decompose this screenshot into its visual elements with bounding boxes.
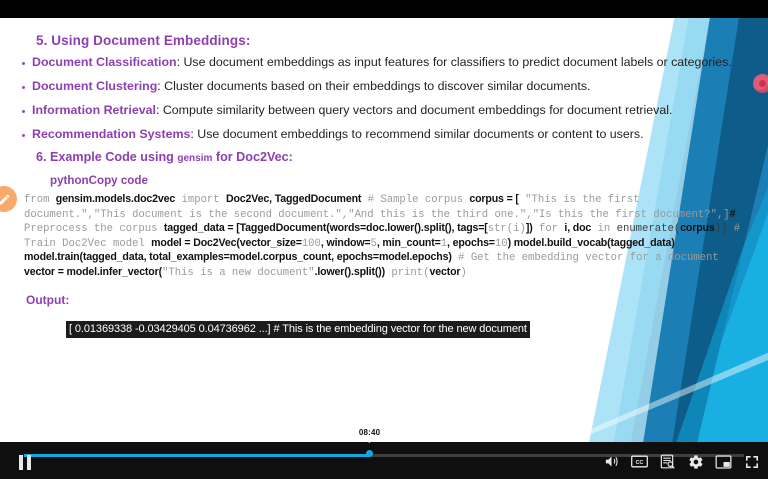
section-subtitle-pre: 6. Example Code using xyxy=(36,150,177,164)
section-subtitle: 6. Example Code using gensim for Doc2Vec… xyxy=(36,150,754,164)
pause-bar-left xyxy=(19,455,23,470)
section-subtitle-post: for Doc2Vec: xyxy=(212,150,293,164)
bullet-body: : Use document embeddings to recommend s… xyxy=(190,127,643,141)
bullet-body: : Cluster documents based on their embed… xyxy=(157,79,590,93)
letterbox-top xyxy=(0,0,768,18)
bullet-body: : Compute similarity between query vecto… xyxy=(156,103,673,117)
svg-text:CC: CC xyxy=(636,460,644,466)
list-item: Recommendation Systems: Use document emb… xyxy=(14,126,754,144)
bullet-body: : Use document embeddings as input featu… xyxy=(177,55,732,69)
volume-icon[interactable] xyxy=(603,453,620,470)
bullet-marker-icon xyxy=(14,102,32,120)
bullet-marker-icon xyxy=(14,78,32,96)
miniplayer-icon[interactable] xyxy=(715,453,732,470)
bullet-term: Document Clustering xyxy=(32,79,157,93)
closed-captions-icon[interactable]: CC xyxy=(631,453,648,470)
pause-bar-right xyxy=(27,455,31,470)
transcript-search-icon[interactable] xyxy=(659,453,676,470)
settings-gear-icon[interactable] xyxy=(687,453,704,470)
bullet-term: Recommendation Systems xyxy=(32,127,190,141)
bullet-text: Document Classification: Use document em… xyxy=(32,54,754,72)
time-tooltip: 08:40 xyxy=(355,426,384,439)
slide-heading: 5. Using Document Embeddings: xyxy=(36,33,754,48)
player-control-bar: 08:40 CC xyxy=(0,442,768,479)
bullet-marker-icon xyxy=(14,126,32,144)
progress-fill xyxy=(24,454,370,457)
bullet-text: Document Clustering: Cluster documents b… xyxy=(32,78,754,96)
fullscreen-icon[interactable] xyxy=(743,453,760,470)
control-icon-group: CC xyxy=(603,453,760,470)
output-label: Output: xyxy=(26,293,754,307)
section-subtitle-library: gensim xyxy=(177,153,212,164)
pause-button[interactable] xyxy=(16,454,34,472)
output-vector-text: [ 0.01369338 -0.03429405 0.04736962 ...]… xyxy=(66,321,530,338)
list-item: Document Classification: Use document em… xyxy=(14,54,754,72)
copy-code-label: pythonCopy code xyxy=(50,174,754,187)
bullet-term: Document Classification xyxy=(32,55,177,69)
code-block: from gensim.models.doc2vec import Doc2Ve… xyxy=(24,193,744,281)
video-player: 5. Using Document Embeddings: Document C… xyxy=(0,0,768,479)
list-item: Information Retrieval: Compute similarit… xyxy=(14,102,754,120)
bullet-text: Information Retrieval: Compute similarit… xyxy=(32,102,754,120)
slide-canvas: 5. Using Document Embeddings: Document C… xyxy=(0,18,768,442)
bullet-marker-icon xyxy=(14,54,32,72)
list-item: Document Clustering: Cluster documents b… xyxy=(14,78,754,96)
bullet-text: Recommendation Systems: Use document emb… xyxy=(32,126,754,144)
slide-content: 5. Using Document Embeddings: Document C… xyxy=(0,18,768,338)
bullet-term: Information Retrieval xyxy=(32,103,156,117)
